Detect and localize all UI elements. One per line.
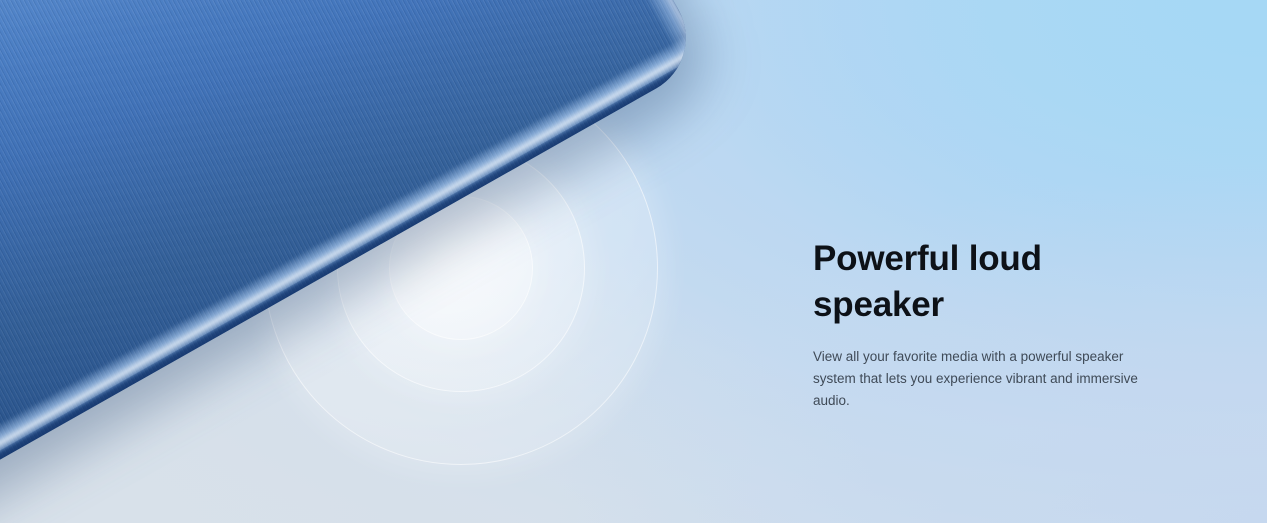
promo-body-text: View all your favorite media with a powe… — [813, 346, 1153, 412]
promo-banner: Powerful loud speaker View all your favo… — [0, 0, 1267, 523]
promo-heading: Powerful loud speaker — [813, 236, 1083, 328]
copy-block: Powerful loud speaker View all your favo… — [813, 236, 1158, 412]
